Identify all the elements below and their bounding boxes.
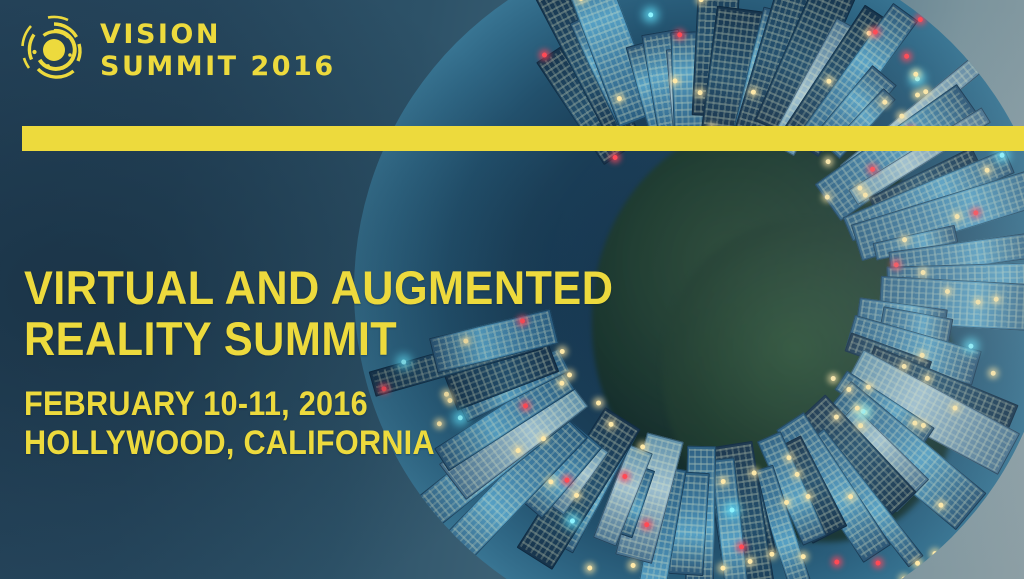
event-location: HOLLYWOOD, CALIFORNIA xyxy=(24,425,601,462)
logo-text-line-2: SUMMIT 2016 xyxy=(100,53,336,80)
yellow-horizontal-rule xyxy=(22,126,1024,151)
event-dates: FEBRUARY 10-11, 2016 xyxy=(24,386,601,423)
headline-line-1: VIRTUAL AND AUGMENTED xyxy=(24,262,613,313)
vision-summit-logo[interactable]: VISION SUMMIT 2016 xyxy=(18,14,336,86)
logo-text-line-1: VISION xyxy=(100,21,336,48)
headline-line-2: REALITY SUMMIT xyxy=(24,313,613,364)
event-banner: VISION SUMMIT 2016 VIRTUAL AND AUGMENTED… xyxy=(0,0,1024,579)
event-copy-block: VIRTUAL AND AUGMENTED REALITY SUMMIT FEB… xyxy=(24,262,665,462)
concentric-circles-vision-icon xyxy=(18,14,90,86)
